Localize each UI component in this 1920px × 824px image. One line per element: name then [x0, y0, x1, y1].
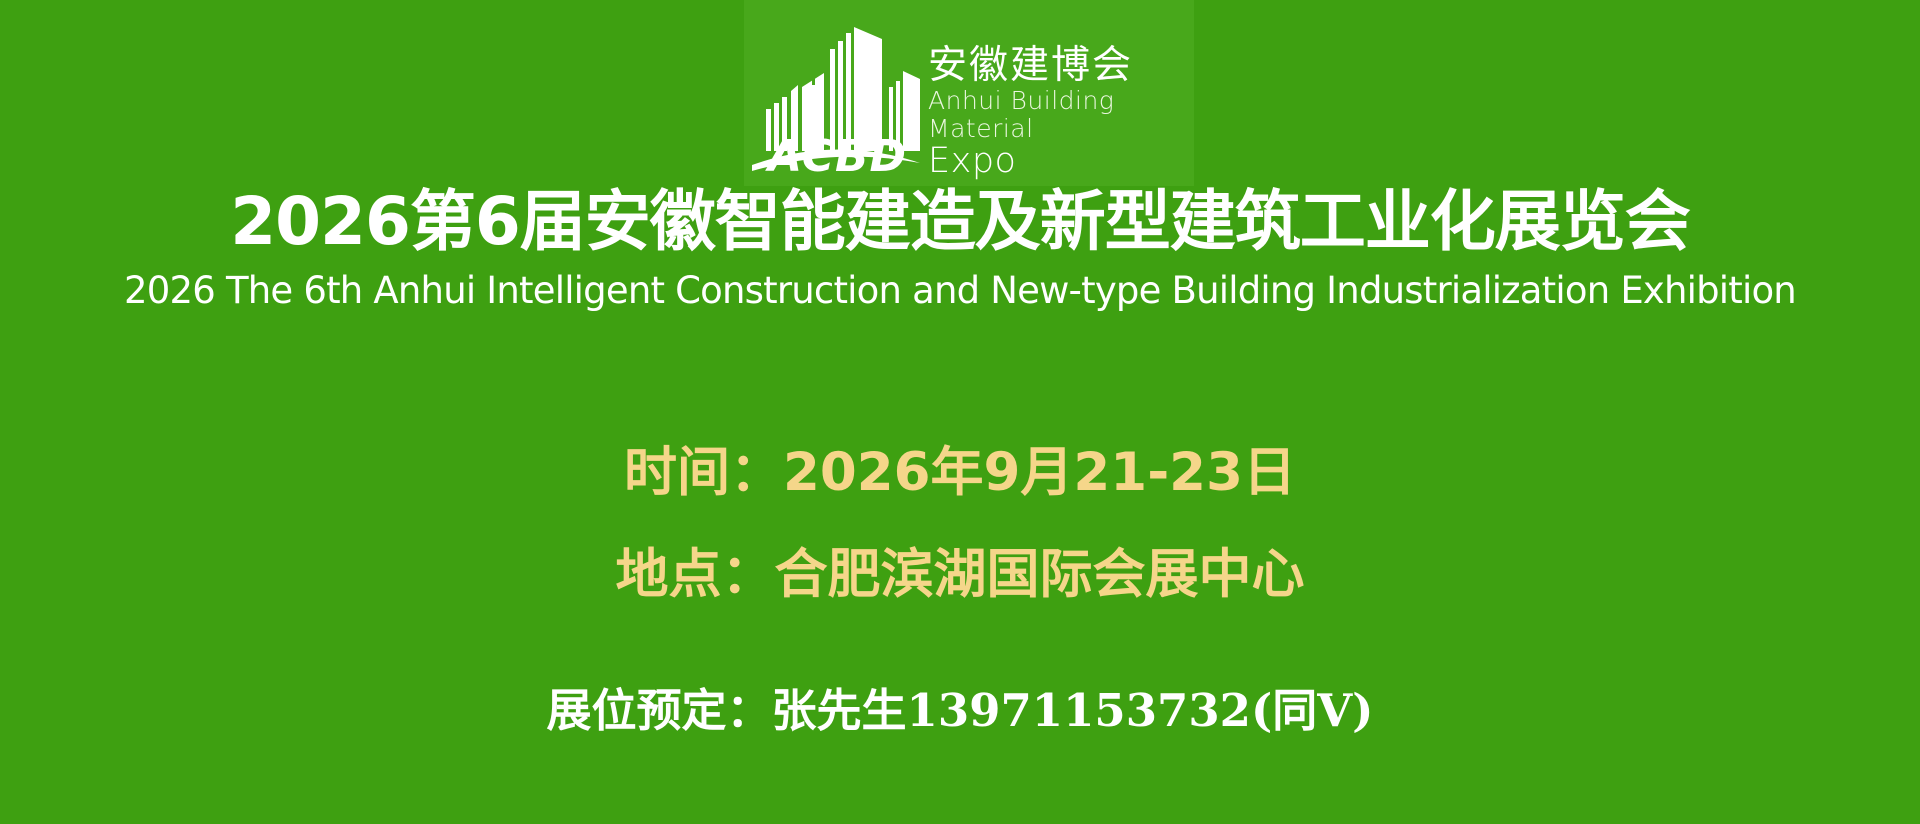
- acbd-building-logo-icon: ACBD: [750, 13, 922, 173]
- expo-banner: ACBD 安徽建博会 Anhui Building Material Expo …: [0, 0, 1920, 824]
- logo-name-en1: Anhui Building Material: [928, 87, 1194, 143]
- booth-booking-line: 展位预定：张先生13971153732(同V): [0, 688, 1920, 733]
- headline-chinese: 2026第6届安徽智能建造及新型建筑工业化展览会: [0, 189, 1920, 255]
- logo-name-en2: Expo: [928, 143, 1194, 180]
- logo-name-cn: 安徽建博会: [928, 46, 1194, 87]
- expo-logo-panel: ACBD 安徽建博会 Anhui Building Material Expo: [744, 0, 1194, 186]
- svg-text:ACBD: ACBD: [765, 131, 907, 173]
- event-date-line: 时间：2026年9月21-23日: [0, 446, 1920, 499]
- expo-logo-wordmark: 安徽建博会 Anhui Building Material Expo: [928, 6, 1194, 180]
- headline-english: 2026 The 6th Anhui Intelligent Construct…: [0, 272, 1920, 309]
- event-venue-line: 地点：合肥滨湖国际会展中心: [0, 548, 1920, 601]
